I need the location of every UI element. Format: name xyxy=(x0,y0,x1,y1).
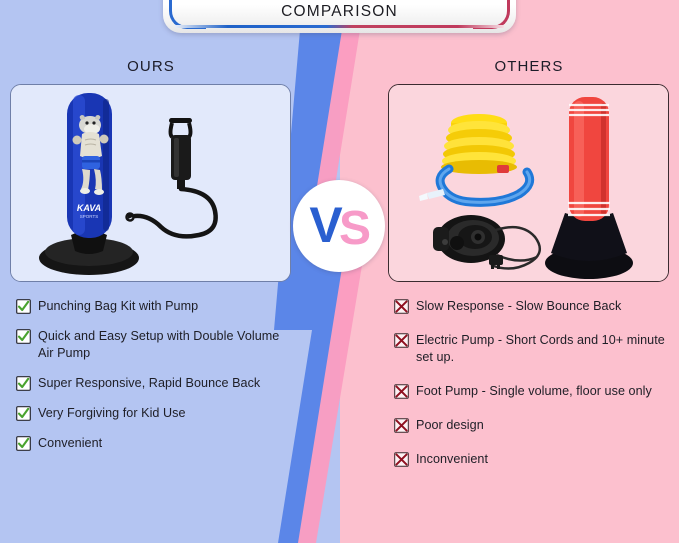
column-heading-ours: OURS xyxy=(10,58,292,75)
list-item: Poor design xyxy=(394,417,670,434)
list-item: Punching Bag Kit with Pump xyxy=(16,298,288,315)
cross-box-icon xyxy=(394,452,409,467)
feature-text: Punching Bag Kit with Pump xyxy=(38,298,198,315)
cross-box-icon xyxy=(394,299,409,314)
feature-text: Inconvenient xyxy=(416,451,488,468)
svg-text:KAVA: KAVA xyxy=(77,203,101,213)
check-box-icon xyxy=(16,436,31,451)
list-item: Slow Response - Slow Bounce Back xyxy=(394,298,670,315)
cross-box-icon xyxy=(394,333,409,348)
check-box-icon xyxy=(16,376,31,391)
feature-text: Slow Response - Slow Bounce Back xyxy=(416,298,621,315)
list-item: Quick and Easy Setup with Double Volume … xyxy=(16,328,288,362)
list-item: Super Responsive, Rapid Bounce Back xyxy=(16,375,288,392)
svg-text:SPORTS: SPORTS xyxy=(80,214,98,219)
feature-text: Electric Pump - Short Cords and 10+ minu… xyxy=(416,332,670,366)
check-box-icon xyxy=(16,299,31,314)
list-item: Inconvenient xyxy=(394,451,670,468)
list-item: Foot Pump - Single volume, floor use onl… xyxy=(394,383,670,400)
feature-text: Super Responsive, Rapid Bounce Back xyxy=(38,375,260,392)
product-card-ours: KAVA SPORTS xyxy=(10,84,291,282)
list-item: Very Forgiving for Kid Use xyxy=(16,405,288,422)
check-box-icon xyxy=(16,406,31,421)
feature-list-ours: Punching Bag Kit with Pump Quick and Eas… xyxy=(16,298,288,465)
column-heading-others: OTHERS xyxy=(388,58,670,75)
feature-text: Foot Pump - Single volume, floor use onl… xyxy=(416,383,652,400)
comparison-infographic: COMPARISON OURS OTHERS xyxy=(0,0,679,543)
banner-title: COMPARISON xyxy=(163,3,516,21)
list-item: Electric Pump - Short Cords and 10+ minu… xyxy=(394,332,670,366)
feature-text: Quick and Easy Setup with Double Volume … xyxy=(38,328,288,362)
vs-letter-s: S xyxy=(339,202,371,255)
check-box-icon xyxy=(16,329,31,344)
feature-list-others: Slow Response - Slow Bounce Back Electri… xyxy=(394,298,670,485)
comparison-banner: COMPARISON xyxy=(163,0,516,33)
banner-underline xyxy=(175,25,504,28)
feature-text: Convenient xyxy=(38,435,102,452)
product-card-others xyxy=(388,84,669,282)
cross-box-icon xyxy=(394,418,409,433)
feature-text: Very Forgiving for Kid Use xyxy=(38,405,186,422)
vs-badge: V S xyxy=(293,180,385,272)
feature-text: Poor design xyxy=(416,417,484,434)
cross-box-icon xyxy=(394,384,409,399)
list-item: Convenient xyxy=(16,435,288,452)
